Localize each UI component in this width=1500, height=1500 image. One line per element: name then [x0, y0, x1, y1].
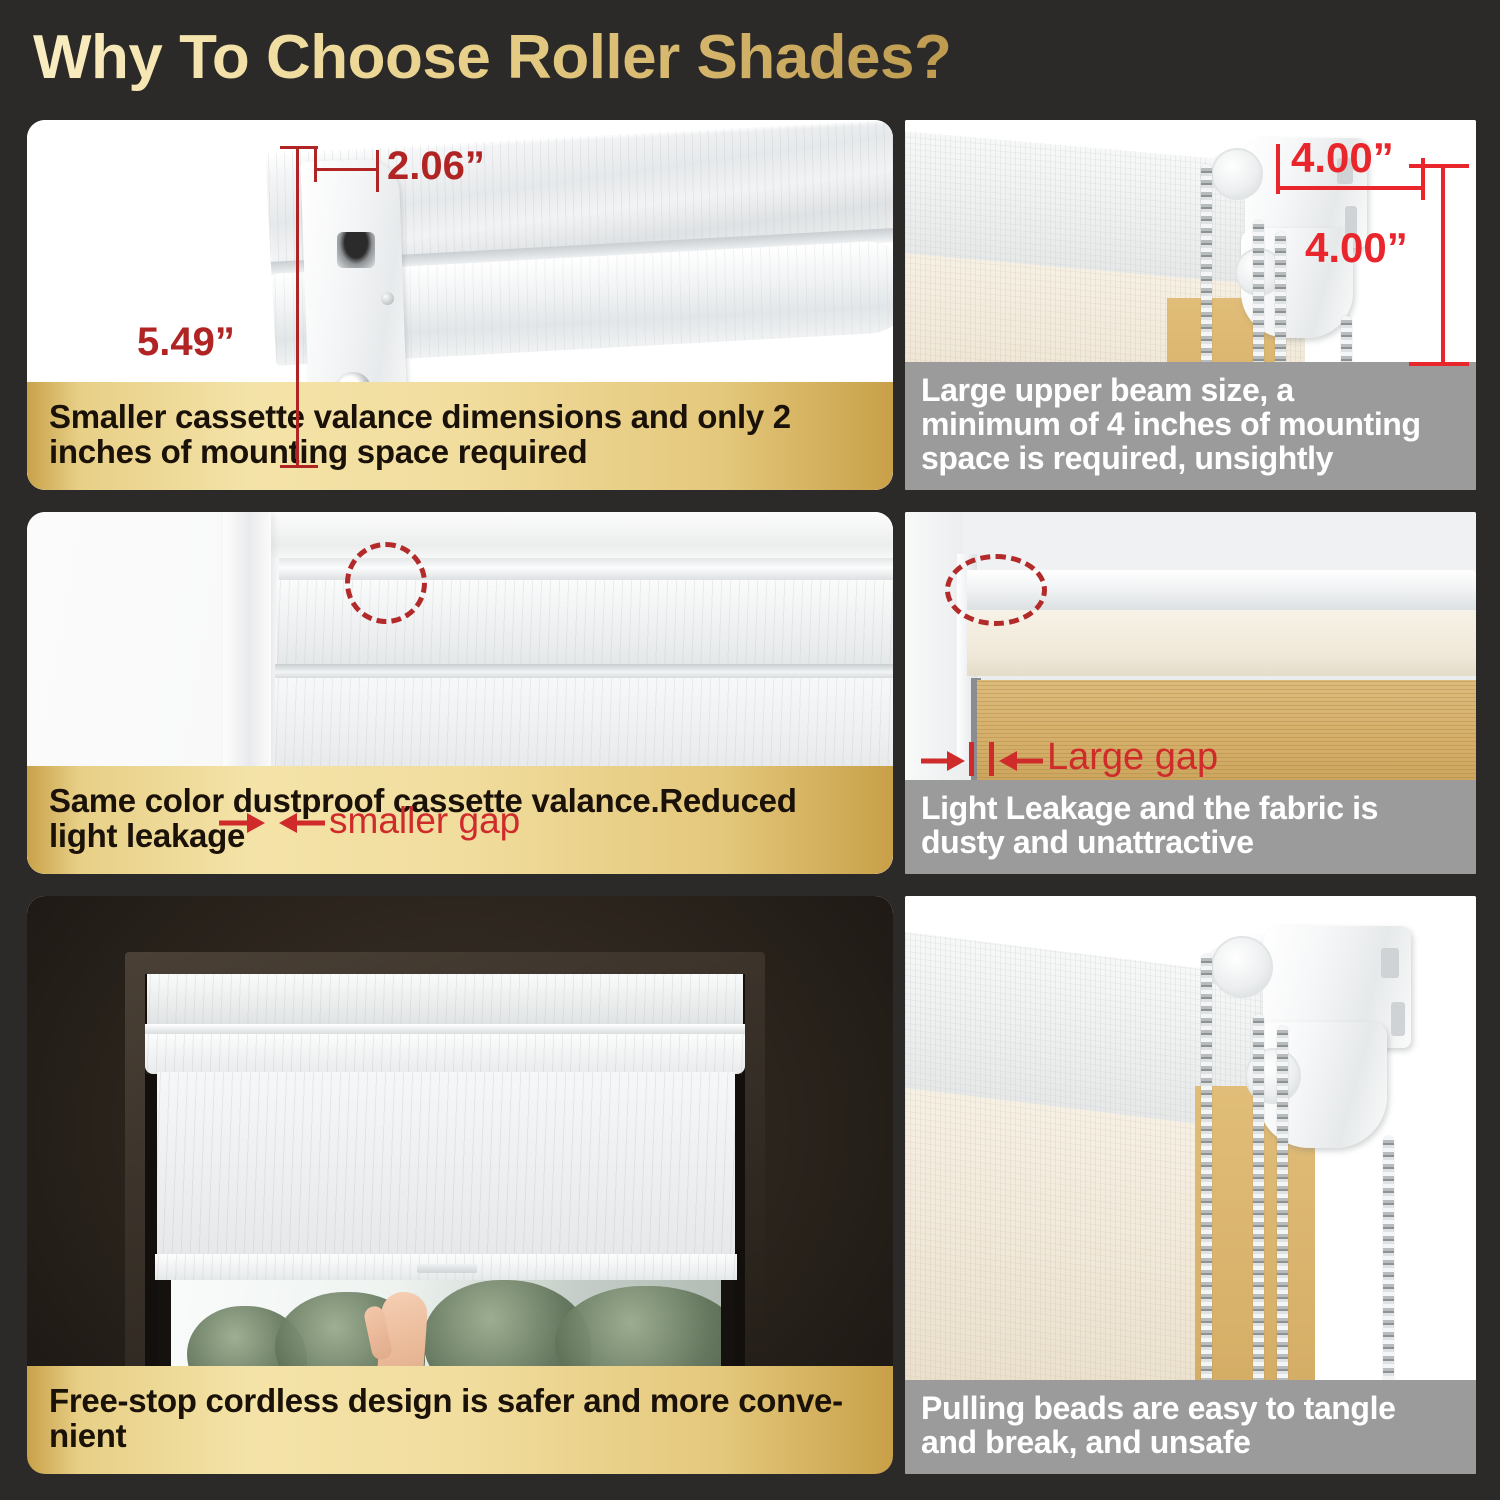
- highlight-circle-annotation: [945, 554, 1047, 626]
- panel-dustproof-valance: smaller gap Same color dustproof cassett…: [27, 512, 893, 874]
- bead-chain: [1201, 954, 1212, 1454]
- infographic-page: Why To Choose Roller Shades? 2.06”: [0, 0, 1500, 1500]
- caption-line: space is required, unsightly: [921, 442, 1460, 476]
- caption-line: Large upper beam size, a: [921, 374, 1460, 408]
- highlight-circle-annotation: [345, 542, 427, 624]
- gap-label: Large gap: [1047, 736, 1218, 779]
- page-title: Why To Choose Roller Shades?: [33, 22, 951, 93]
- width-dimension-line: [315, 168, 379, 171]
- beam-height-dimension-line: [1441, 164, 1445, 364]
- panel-4-caption: Light Leakage and the fabric is dusty an…: [905, 780, 1476, 874]
- gap-arrow-left-icon: [921, 748, 965, 774]
- caption-line: dusty and unattractive: [921, 826, 1460, 860]
- panel-2-caption: Large upper beam size, a minimum of 4 in…: [905, 362, 1476, 490]
- gap-arrow-right-icon: [279, 810, 325, 836]
- caption-line: nient: [49, 1419, 871, 1454]
- beam-width-dimension-label: 4.00”: [1291, 134, 1394, 182]
- height-dimension-label: 5.49”: [137, 320, 235, 365]
- width-dim-tick-right: [376, 150, 379, 192]
- panel-large-upper-beam: 4.00” 4.00” Large upper beam size, a min…: [905, 120, 1476, 490]
- panel-6-caption: Pulling beads are easy to tangle and bre…: [905, 1380, 1476, 1474]
- roller-end-disc: [1211, 936, 1273, 998]
- height-dim-tick-bottom: [280, 465, 318, 468]
- beam-width-dimension-line: [1277, 186, 1425, 190]
- caption-line: Light Leakage and the fabric is: [921, 792, 1460, 826]
- bracket-slot-icon: [1381, 948, 1399, 978]
- caption-line: Smaller cassette valance dimensions and …: [49, 400, 871, 435]
- beam-height-dimension-label: 4.00”: [1305, 224, 1408, 272]
- gap-arrow-left-icon: [219, 810, 265, 836]
- cassette-headrail: [147, 974, 743, 1026]
- shade-main-panel: [157, 1072, 735, 1258]
- caption-line: Free-stop cordless design is safer and m…: [49, 1384, 871, 1419]
- panel-cordless-design: Free-stop cordless design is safer and m…: [27, 896, 893, 1474]
- screw-icon: [381, 292, 394, 305]
- page-title-text: Why To Choose Roller Shades?: [33, 23, 951, 92]
- gap-measure-bar-left: [969, 742, 974, 776]
- gap-label: smaller gap: [329, 800, 520, 842]
- beam-width-tick-left: [1276, 144, 1280, 194]
- panel-1-caption: Smaller cassette valance dimensions and …: [27, 382, 893, 490]
- panel-light-leakage: Large gap Light Leakage and the fabric i…: [905, 512, 1476, 874]
- beam-height-tick-top: [1409, 164, 1469, 168]
- height-dimension-line: [296, 146, 299, 468]
- caption-line: Pulling beads are easy to tangle: [921, 1392, 1460, 1426]
- caption-line: minimum of 4 inches of mounting: [921, 408, 1460, 442]
- panel-pulling-beads: Pulling beads are easy to tangle and bre…: [905, 896, 1476, 1474]
- roller-end-disc: [1211, 148, 1263, 200]
- bracket-slot-icon: [1391, 1002, 1405, 1036]
- shade-upper-panel: [145, 1034, 745, 1074]
- gap-arrow-right-icon: [999, 748, 1043, 774]
- window-frame-top: [223, 512, 893, 560]
- cream-valance: [967, 610, 1476, 676]
- width-dimension-label: 2.06”: [387, 144, 485, 189]
- caption-line: inches of mounting space required: [49, 435, 871, 470]
- width-dim-tick-left: [314, 148, 317, 182]
- caption-line: and break, and unsafe: [921, 1426, 1460, 1460]
- panel-5-caption: Free-stop cordless design is safer and m…: [27, 1366, 893, 1474]
- panel-smaller-cassette: 2.06” 5.49” Smaller cassette valance dim…: [27, 120, 893, 490]
- pull-tab: [417, 1264, 477, 1273]
- bracket-slot-upper-icon: [337, 232, 375, 268]
- beam-height-tick-bottom: [1409, 362, 1469, 366]
- height-dim-tick-top: [280, 146, 318, 149]
- gap-measure-bar-right: [989, 742, 994, 776]
